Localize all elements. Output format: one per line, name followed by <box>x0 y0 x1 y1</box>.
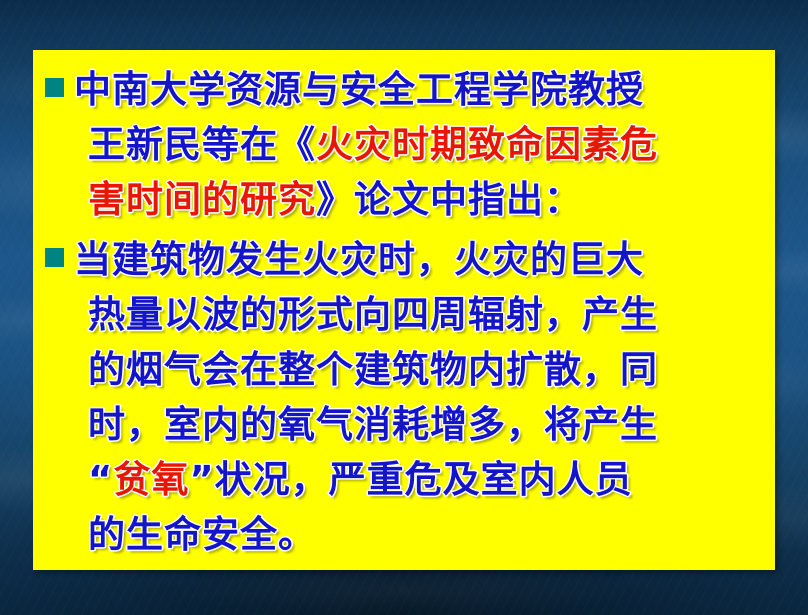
text-segment: “ <box>88 458 113 501</box>
text-segment: 热量以波的形式向四周辐射，产生 <box>88 293 658 336</box>
bullet-block-1: 中南大学资源与安全工程学院教授王新民等在《火灾时期致命因素危害时间的研究》论文中… <box>33 62 775 227</box>
text-line: “贫氧”状况，严重危及室内人员 <box>74 452 767 507</box>
yellow-content-panel: 中南大学资源与安全工程学院教授王新民等在《火灾时期致命因素危害时间的研究》论文中… <box>33 50 775 570</box>
text-line: 的烟气会在整个建筑物内扩散，同 <box>74 342 767 397</box>
presentation-slide: 中南大学资源与安全工程学院教授王新民等在《火灾时期致命因素危害时间的研究》论文中… <box>0 0 808 615</box>
square-bullet-icon <box>45 78 64 97</box>
text-line: 王新民等在《火灾时期致命因素危 <box>74 117 767 172</box>
text-segment: ”状况，严重危及室内人员 <box>189 458 632 501</box>
text-segment: 》论文中指出： <box>316 178 582 221</box>
text-line: 的生命安全。 <box>74 507 767 562</box>
bullet-2-lines: 当建筑物发生火灾时，火灾的巨大热量以波的形式向四周辐射，产生的烟气会在整个建筑物… <box>33 232 775 562</box>
text-segment: 时，室内的氧气消耗增多，将产生 <box>88 403 658 446</box>
square-bullet-icon <box>45 248 64 267</box>
text-segment: 中南大学资源与安全工程学院教授 <box>74 68 644 111</box>
highlighted-text-segment: 火灾时期致命因素危 <box>316 123 658 166</box>
text-segment: 王新民等在《 <box>88 123 316 166</box>
text-segment: 的烟气会在整个建筑物内扩散，同 <box>88 348 658 391</box>
text-segment: 当建筑物发生火灾时，火灾的巨大 <box>74 238 644 281</box>
bullet-block-2: 当建筑物发生火灾时，火灾的巨大热量以波的形式向四周辐射，产生的烟气会在整个建筑物… <box>33 232 775 562</box>
bullet-1-lines: 中南大学资源与安全工程学院教授王新民等在《火灾时期致命因素危害时间的研究》论文中… <box>33 62 775 227</box>
text-line: 害时间的研究》论文中指出： <box>74 172 767 227</box>
text-line: 当建筑物发生火灾时，火灾的巨大 <box>74 232 767 287</box>
text-line: 时，室内的氧气消耗增多，将产生 <box>74 397 767 452</box>
highlighted-text-segment: 贫氧 <box>113 458 189 501</box>
highlighted-text-segment: 害时间的研究 <box>88 178 316 221</box>
text-line: 热量以波的形式向四周辐射，产生 <box>74 287 767 342</box>
text-segment: 的生命安全。 <box>88 513 316 556</box>
text-line: 中南大学资源与安全工程学院教授 <box>74 62 767 117</box>
